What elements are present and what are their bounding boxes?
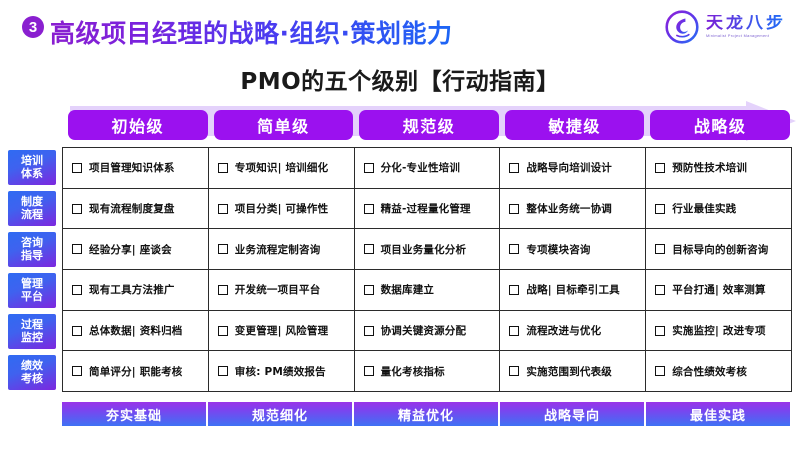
- footer-cell-0: 夯实基础: [62, 402, 206, 426]
- checkbox-icon[interactable]: [218, 326, 228, 336]
- footer-cell-2: 精益优化: [354, 402, 498, 426]
- checkbox-icon[interactable]: [72, 204, 82, 214]
- row-label-5-line1: 绩效: [21, 360, 43, 373]
- cell-r2-c1[interactable]: 业务流程定制咨询: [209, 229, 355, 269]
- row-label-0-line2: 体系: [21, 168, 43, 181]
- row-label-1-line2: 流程: [21, 209, 43, 222]
- row-label-3: 管理平台: [8, 273, 56, 308]
- cell-r5-c3[interactable]: 实施范围到代表级: [500, 351, 646, 391]
- cell-r4-c4[interactable]: 实施监控| 改进专项: [646, 311, 791, 351]
- cell-r4-c2[interactable]: 协调关键资源分配: [355, 311, 501, 351]
- cell-text: 战略| 目标牵引工具: [526, 282, 620, 297]
- cell-text: 简单评分| 职能考核: [89, 364, 183, 379]
- level-button-0[interactable]: 初始级: [68, 110, 208, 140]
- cell-text: 精益-过程量化管理: [381, 201, 471, 216]
- table-row: 经验分享| 座谈会 业务流程定制咨询 项目业务量化分析 专项模块咨询 目标导向的…: [63, 229, 791, 270]
- cell-r4-c0[interactable]: 总体数据| 资料归档: [63, 311, 209, 351]
- logo-text-block: 天龙八步 Minimalist Project Management: [706, 15, 786, 39]
- cell-r3-c2[interactable]: 数据库建立: [355, 270, 501, 310]
- checkbox-icon[interactable]: [72, 163, 82, 173]
- cell-text: 行业最佳实践: [672, 201, 736, 216]
- row-label-column: 培训体系 制度流程 咨询指导 管理平台 过程监控 绩效考核: [8, 147, 56, 392]
- footer-cell-3: 战略导向: [500, 402, 644, 426]
- cell-r5-c0[interactable]: 简单评分| 职能考核: [63, 351, 209, 391]
- cell-r1-c3[interactable]: 整体业务统一协调: [500, 189, 646, 229]
- cell-text: 目标导向的创新咨询: [672, 242, 768, 257]
- footer-cell-1: 规范细化: [208, 402, 352, 426]
- cell-r0-c3[interactable]: 战略导向培训设计: [500, 148, 646, 188]
- cell-r2-c0[interactable]: 经验分享| 座谈会: [63, 229, 209, 269]
- checkbox-icon[interactable]: [364, 366, 374, 376]
- cell-text: 经验分享| 座谈会: [89, 242, 172, 257]
- checkbox-icon[interactable]: [509, 204, 519, 214]
- checkbox-icon[interactable]: [509, 163, 519, 173]
- cell-r4-c1[interactable]: 变更管理| 风险管理: [209, 311, 355, 351]
- page-title: 高级项目经理的战略·组织·策划能力: [50, 14, 453, 50]
- cell-text: 实施范围到代表级: [526, 364, 612, 379]
- checkbox-icon[interactable]: [218, 244, 228, 254]
- cell-text: 开发统一项目平台: [235, 282, 321, 297]
- logo-name-en: Minimalist Project Management: [706, 35, 790, 39]
- checkbox-icon[interactable]: [655, 163, 665, 173]
- level-button-1[interactable]: 简单级: [214, 110, 354, 140]
- cell-text: 变更管理| 风险管理: [235, 323, 329, 338]
- matrix-table: 项目管理知识体系 专项知识| 培训细化 分化-专业性培训 战略导向培训设计 预防…: [62, 147, 792, 392]
- row-label-5-line2: 考核: [21, 373, 43, 386]
- cell-text: 现有工具方法推广: [89, 282, 175, 297]
- chart-title: PMO的五个级别【行动指南】: [0, 62, 800, 96]
- checkbox-icon[interactable]: [655, 204, 665, 214]
- level-button-3[interactable]: 敏捷级: [505, 110, 645, 140]
- checkbox-icon[interactable]: [72, 366, 82, 376]
- row-label-4: 过程监控: [8, 314, 56, 349]
- table-row: 项目管理知识体系 专项知识| 培训细化 分化-专业性培训 战略导向培训设计 预防…: [63, 148, 791, 189]
- table-row: 现有工具方法推广 开发统一项目平台 数据库建立 战略| 目标牵引工具 平台打通|…: [63, 270, 791, 311]
- cell-text: 整体业务统一协调: [526, 201, 612, 216]
- cell-r4-c3[interactable]: 流程改进与优化: [500, 311, 646, 351]
- row-label-3-line1: 管理: [21, 278, 43, 291]
- row-label-4-line1: 过程: [21, 319, 43, 332]
- cell-r0-c1[interactable]: 专项知识| 培训细化: [209, 148, 355, 188]
- logo-name-cn: 天龙八步: [706, 15, 786, 32]
- row-label-3-line2: 平台: [21, 291, 43, 304]
- cell-text: 项目管理知识体系: [89, 160, 175, 175]
- checkbox-icon[interactable]: [72, 326, 82, 336]
- row-label-2-line1: 咨询: [21, 237, 43, 250]
- level-header-row: 初始级 简单级 规范级 敏捷级 战略级: [68, 110, 790, 140]
- checkbox-icon[interactable]: [655, 326, 665, 336]
- cell-text: 专项知识| 培训细化: [235, 160, 329, 175]
- cell-r2-c4[interactable]: 目标导向的创新咨询: [646, 229, 791, 269]
- cell-text: 分化-专业性培训: [381, 160, 460, 175]
- cell-text: 平台打通| 效率测算: [672, 282, 766, 297]
- row-label-2: 咨询指导: [8, 232, 56, 267]
- capability-matrix: 培训体系 制度流程 咨询指导 管理平台 过程监控 绩效考核 项目管理知识体系 专…: [8, 147, 792, 392]
- cell-text: 项目分类| 可操作性: [235, 201, 329, 216]
- brand-logo: 天龙八步 Minimalist Project Management: [665, 10, 786, 44]
- cell-r0-c2[interactable]: 分化-专业性培训: [355, 148, 501, 188]
- checkbox-icon[interactable]: [509, 244, 519, 254]
- checkbox-icon[interactable]: [218, 285, 228, 295]
- checkbox-icon[interactable]: [364, 244, 374, 254]
- checkbox-icon[interactable]: [509, 285, 519, 295]
- section-number-badge: 3: [22, 16, 44, 38]
- cell-text: 量化考核指标: [381, 364, 445, 379]
- cell-r1-c4[interactable]: 行业最佳实践: [646, 189, 791, 229]
- checkbox-icon[interactable]: [509, 326, 519, 336]
- cell-text: 专项模块咨询: [526, 242, 590, 257]
- cell-r0-c0[interactable]: 项目管理知识体系: [63, 148, 209, 188]
- cell-r1-c2[interactable]: 精益-过程量化管理: [355, 189, 501, 229]
- checkbox-icon[interactable]: [655, 366, 665, 376]
- cell-text: 实施监控| 改进专项: [672, 323, 766, 338]
- checkbox-icon[interactable]: [218, 163, 228, 173]
- row-label-4-line2: 监控: [21, 332, 43, 345]
- cell-text: 业务流程定制咨询: [235, 242, 321, 257]
- cell-text: 审核: PM绩效报告: [235, 364, 326, 379]
- table-row: 总体数据| 资料归档 变更管理| 风险管理 协调关键资源分配 流程改进与优化 实…: [63, 311, 791, 352]
- checkbox-icon[interactable]: [72, 244, 82, 254]
- checkbox-icon[interactable]: [364, 204, 374, 214]
- cell-r3-c3[interactable]: 战略| 目标牵引工具: [500, 270, 646, 310]
- checkbox-icon[interactable]: [364, 163, 374, 173]
- level-button-4[interactable]: 战略级: [650, 110, 790, 140]
- cell-text: 战略导向培训设计: [526, 160, 612, 175]
- cell-text: 总体数据| 资料归档: [89, 323, 183, 338]
- checkbox-icon[interactable]: [218, 366, 228, 376]
- cell-text: 协调关键资源分配: [381, 323, 467, 338]
- footer-cell-4: 最佳实践: [646, 402, 790, 426]
- cell-r2-c2[interactable]: 项目业务量化分析: [355, 229, 501, 269]
- cell-r3-c4[interactable]: 平台打通| 效率测算: [646, 270, 791, 310]
- cell-text: 流程改进与优化: [526, 323, 601, 338]
- level-button-2[interactable]: 规范级: [359, 110, 499, 140]
- row-label-5: 绩效考核: [8, 355, 56, 390]
- table-row: 现有流程制度复盘 项目分类| 可操作性 精益-过程量化管理 整体业务统一协调 行…: [63, 189, 791, 230]
- cell-text: 项目业务量化分析: [381, 242, 467, 257]
- row-label-0-line1: 培训: [21, 155, 43, 168]
- checkbox-icon[interactable]: [655, 285, 665, 295]
- cell-r0-c4[interactable]: 预防性技术培训: [646, 148, 791, 188]
- row-label-2-line2: 指导: [21, 250, 43, 263]
- checkbox-icon[interactable]: [72, 285, 82, 295]
- table-row: 简单评分| 职能考核 审核: PM绩效报告 量化考核指标 实施范围到代表级 综合…: [63, 351, 791, 391]
- cell-r5-c2[interactable]: 量化考核指标: [355, 351, 501, 391]
- cell-r3-c1[interactable]: 开发统一项目平台: [209, 270, 355, 310]
- cell-r1-c0[interactable]: 现有流程制度复盘: [63, 189, 209, 229]
- checkbox-icon[interactable]: [218, 204, 228, 214]
- cell-r5-c4[interactable]: 综合性绩效考核: [646, 351, 791, 391]
- checkbox-icon[interactable]: [364, 326, 374, 336]
- dragon-circle-logo-icon: [665, 10, 699, 44]
- cell-text: 综合性绩效考核: [672, 364, 747, 379]
- checkbox-icon[interactable]: [364, 285, 374, 295]
- cell-text: 预防性技术培训: [672, 160, 747, 175]
- cell-r1-c1[interactable]: 项目分类| 可操作性: [209, 189, 355, 229]
- outcome-footer-row: 夯实基础 规范细化 精益优化 战略导向 最佳实践: [62, 402, 790, 426]
- cell-r2-c3[interactable]: 专项模块咨询: [500, 229, 646, 269]
- row-label-0: 培训体系: [8, 150, 56, 185]
- cell-r3-c0[interactable]: 现有工具方法推广: [63, 270, 209, 310]
- row-label-1-line1: 制度: [21, 196, 43, 209]
- slide-header: 3 高级项目经理的战略·组织·策划能力 天龙八步 Minimalist Proj…: [0, 0, 800, 58]
- checkbox-icon[interactable]: [655, 244, 665, 254]
- cell-text: 数据库建立: [381, 282, 435, 297]
- row-label-1: 制度流程: [8, 191, 56, 226]
- checkbox-icon[interactable]: [509, 366, 519, 376]
- cell-text: 现有流程制度复盘: [89, 201, 175, 216]
- cell-r5-c1[interactable]: 审核: PM绩效报告: [209, 351, 355, 391]
